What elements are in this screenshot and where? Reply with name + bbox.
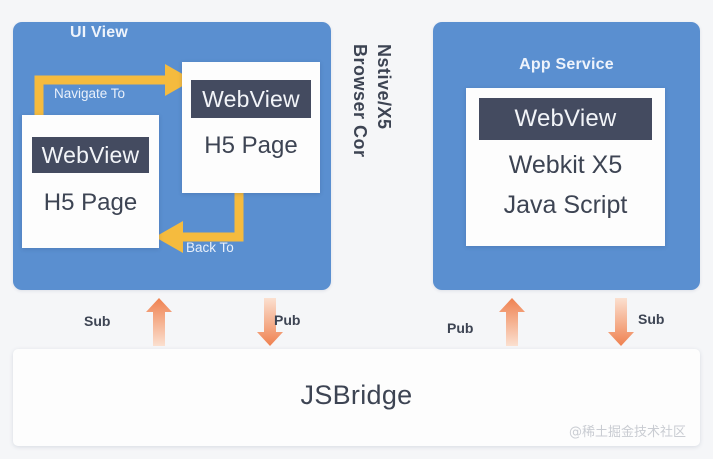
diagram-canvas: UI View Navigate To Back To WebView H5 P… (0, 0, 713, 459)
browser-core-text: Browser Cor (349, 44, 370, 158)
back-to-label: Back To (186, 240, 234, 255)
service-card-webkit-x5-label: Webkit X5 (466, 150, 665, 180)
native-browser-core-label: Nstive/X5 Browser Cor (341, 44, 431, 284)
left-card-webview-header: WebView (32, 137, 149, 173)
pub-label-right: Pub (447, 320, 473, 336)
pub-label-left: Pub (274, 312, 300, 328)
jsbridge-label: JSBridge (13, 380, 700, 411)
pub-up-arrow-right (499, 298, 525, 346)
sub-down-arrow-right (608, 298, 634, 346)
navigate-to-label: Navigate To (54, 86, 125, 101)
right-card-webview-header: WebView (191, 80, 311, 118)
right-card-h5-page-label: H5 Page (182, 132, 320, 161)
service-card-javascript-label: Java Script (466, 190, 665, 220)
sub-label-right: Sub (638, 311, 664, 327)
jsbridge-bar: JSBridge @稀土掘金技术社区 (13, 349, 700, 446)
native-x5-text: Nstive/X5 (373, 44, 394, 130)
ui-view-right-webview-card: WebView H5 Page (182, 62, 320, 193)
ui-view-panel-title: UI View (0, 24, 198, 42)
left-card-h5-page-label: H5 Page (22, 189, 159, 218)
watermark-text: @稀土掘金技术社区 (569, 421, 686, 440)
sub-up-arrow-left (146, 298, 172, 346)
service-card-webview-header: WebView (479, 98, 652, 140)
ui-view-left-webview-card: WebView H5 Page (22, 115, 159, 248)
app-service-panel-title: App Service (433, 56, 700, 74)
app-service-webview-card: WebView Webkit X5 Java Script (466, 88, 665, 246)
sub-label-left: Sub (84, 313, 110, 329)
